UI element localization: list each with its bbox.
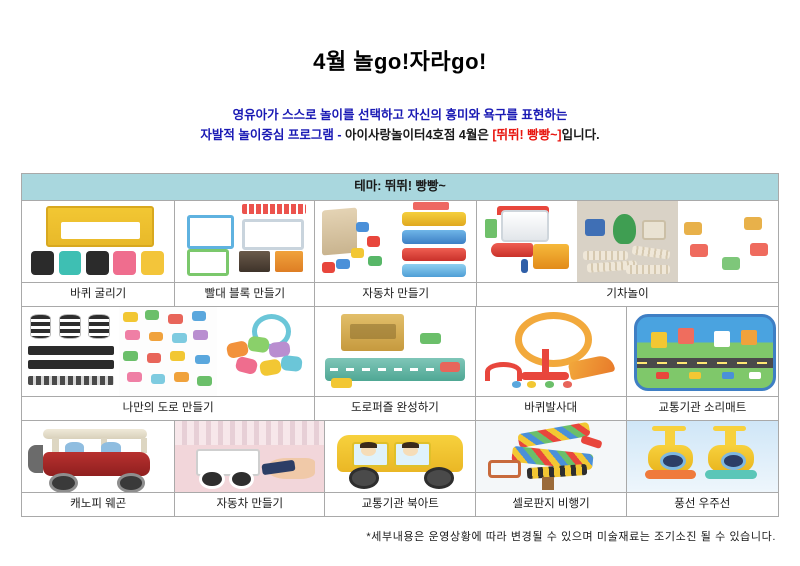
theme-header-bar: 테마: 뛰뛰! 빵빵~ (22, 174, 778, 201)
program-cell-straw-blocks[interactable]: 빨대 블록 만들기 (175, 201, 315, 306)
cell-media (476, 421, 625, 492)
cell-media (22, 201, 174, 282)
cell-media (627, 421, 778, 492)
program-cell-transport-book-art[interactable]: 교통기관 북아트 (325, 421, 476, 516)
table-row: 바퀴 굴리기 빨대 블록 만들기 (22, 201, 778, 307)
cell-media (175, 421, 324, 492)
cell-label: 빨대 블록 만들기 (175, 282, 314, 306)
cell-label: 자동차 만들기 (315, 282, 476, 306)
media-slot (396, 201, 476, 282)
cell-label: 풍선 우주선 (627, 492, 778, 516)
cell-media (476, 307, 626, 396)
photo-road-tape-rolls (22, 307, 119, 396)
program-cell-canopy-wagon[interactable]: 캐노피 웨곤 (22, 421, 175, 516)
photo-paper-craft-car (175, 421, 324, 492)
photo-diecast-vehicle-stack (396, 201, 476, 282)
subtitle-suffix: 입니다. (562, 128, 600, 142)
cell-media (22, 421, 174, 492)
program-cell-train-play[interactable]: 기차놀이 (477, 201, 778, 306)
photo-cellophane-airplane-collage (476, 421, 625, 492)
cell-label: 기차놀이 (477, 282, 778, 306)
cell-media (477, 201, 778, 282)
photo-transport-sound-mat (627, 307, 778, 396)
subtitle-line-1-text: 영유아가 스스로 놀이를 선택하고 자신의 흥미와 욕구를 표현하는 (233, 108, 568, 122)
cell-label: 교통기관 북아트 (325, 492, 475, 516)
photo-wooden-rail-pieces (577, 201, 677, 282)
cell-media (627, 307, 778, 396)
photo-train-station-set (477, 201, 577, 282)
media-split (477, 201, 778, 282)
media-split (22, 307, 314, 396)
media-split (315, 201, 476, 282)
cell-label: 나만의 도로 만들기 (22, 396, 314, 420)
program-cell-my-own-road[interactable]: 나만의 도로 만들기 (22, 307, 315, 420)
cell-label: 바퀴 굴리기 (22, 282, 174, 306)
photo-road-puzzle-set (315, 307, 474, 396)
program-cell-car-making-1[interactable]: 자동차 만들기 (315, 201, 477, 306)
subtitle-theme-highlight: [뛰뛰! 빵빵~] (492, 128, 561, 142)
program-cell-car-making-2[interactable]: 자동차 만들기 (175, 421, 325, 516)
cell-label: 교통기관 소리매트 (627, 396, 778, 420)
cell-label: 셀로판지 비행기 (476, 492, 625, 516)
cell-media (325, 421, 475, 492)
table-row: 캐노피 웨곤 자동차 만들기 (22, 421, 778, 516)
subtitle-program-label: 자발적 놀이중심 프로그램 - (200, 128, 345, 142)
program-cell-cellophane-airplane[interactable]: 셀로판지 비행기 (476, 421, 626, 516)
photo-canopy-wagon (22, 421, 174, 492)
photo-balloon-spaceship-toys (627, 421, 778, 492)
program-cell-road-puzzle[interactable]: 도로퍼즐 완성하기 (315, 307, 475, 420)
photo-school-bus-book-art (325, 421, 475, 492)
media-slot (477, 201, 577, 282)
program-cell-wheel-launcher[interactable]: 바퀴발사대 (476, 307, 627, 420)
cell-media (315, 307, 474, 396)
media-slot (315, 201, 395, 282)
cell-label: 도로퍼즐 완성하기 (315, 396, 474, 420)
page-title: 4월 놀go!자라go! (0, 0, 800, 74)
media-slot (577, 201, 677, 282)
program-cell-wheel-rolling[interactable]: 바퀴 굴리기 (22, 201, 175, 306)
cell-label: 자동차 만들기 (175, 492, 324, 516)
subtitle-block: 영유아가 스스로 놀이를 선택하고 자신의 흥미와 욕구를 표현하는 자발적 놀… (0, 106, 800, 145)
program-table: 테마: 뛰뛰! 빵빵~ 바퀴 굴리기 빨대 블록 만들기 (21, 173, 779, 517)
program-cell-balloon-spaceship[interactable]: 풍선 우주선 (627, 421, 778, 516)
footer-note: *세부내용은 운영상황에 따라 변경될 수 있으며 미술재료는 조기소진 될 수… (366, 528, 776, 544)
cell-label: 바퀴발사대 (476, 396, 626, 420)
program-cell-transport-sound-mat[interactable]: 교통기관 소리매트 (627, 307, 778, 420)
photo-foam-shape-pile (217, 307, 314, 396)
photo-wooden-train-loop (678, 201, 778, 282)
media-slot (119, 307, 216, 396)
photo-wheel-launch-ramp (476, 307, 626, 396)
cell-media (22, 307, 314, 396)
subtitle-center-month: 아이사랑놀이터4호점 4월은 (345, 128, 492, 142)
media-slot (22, 307, 119, 396)
photo-straw-block-kit (175, 201, 314, 282)
cell-media (315, 201, 476, 282)
photo-wheel-roller-stamps (22, 201, 174, 282)
cell-label: 캐노피 웨곤 (22, 492, 174, 516)
media-slot (678, 201, 778, 282)
media-slot (217, 307, 314, 396)
photo-vehicle-sticker-sheet (119, 307, 216, 396)
table-row: 나만의 도로 만들기 도로퍼즐 완성하기 바퀴발사대 (22, 307, 778, 421)
cell-media (175, 201, 314, 282)
subtitle-line-2: 자발적 놀이중심 프로그램 - 아이사랑놀이터4호점 4월은 [뛰뛰! 빵빵~]… (0, 126, 800, 145)
subtitle-line-1: 영유아가 스스로 놀이를 선택하고 자신의 흥미와 욕구를 표현하는 (0, 106, 800, 125)
photo-cardboard-car-box (315, 201, 395, 282)
